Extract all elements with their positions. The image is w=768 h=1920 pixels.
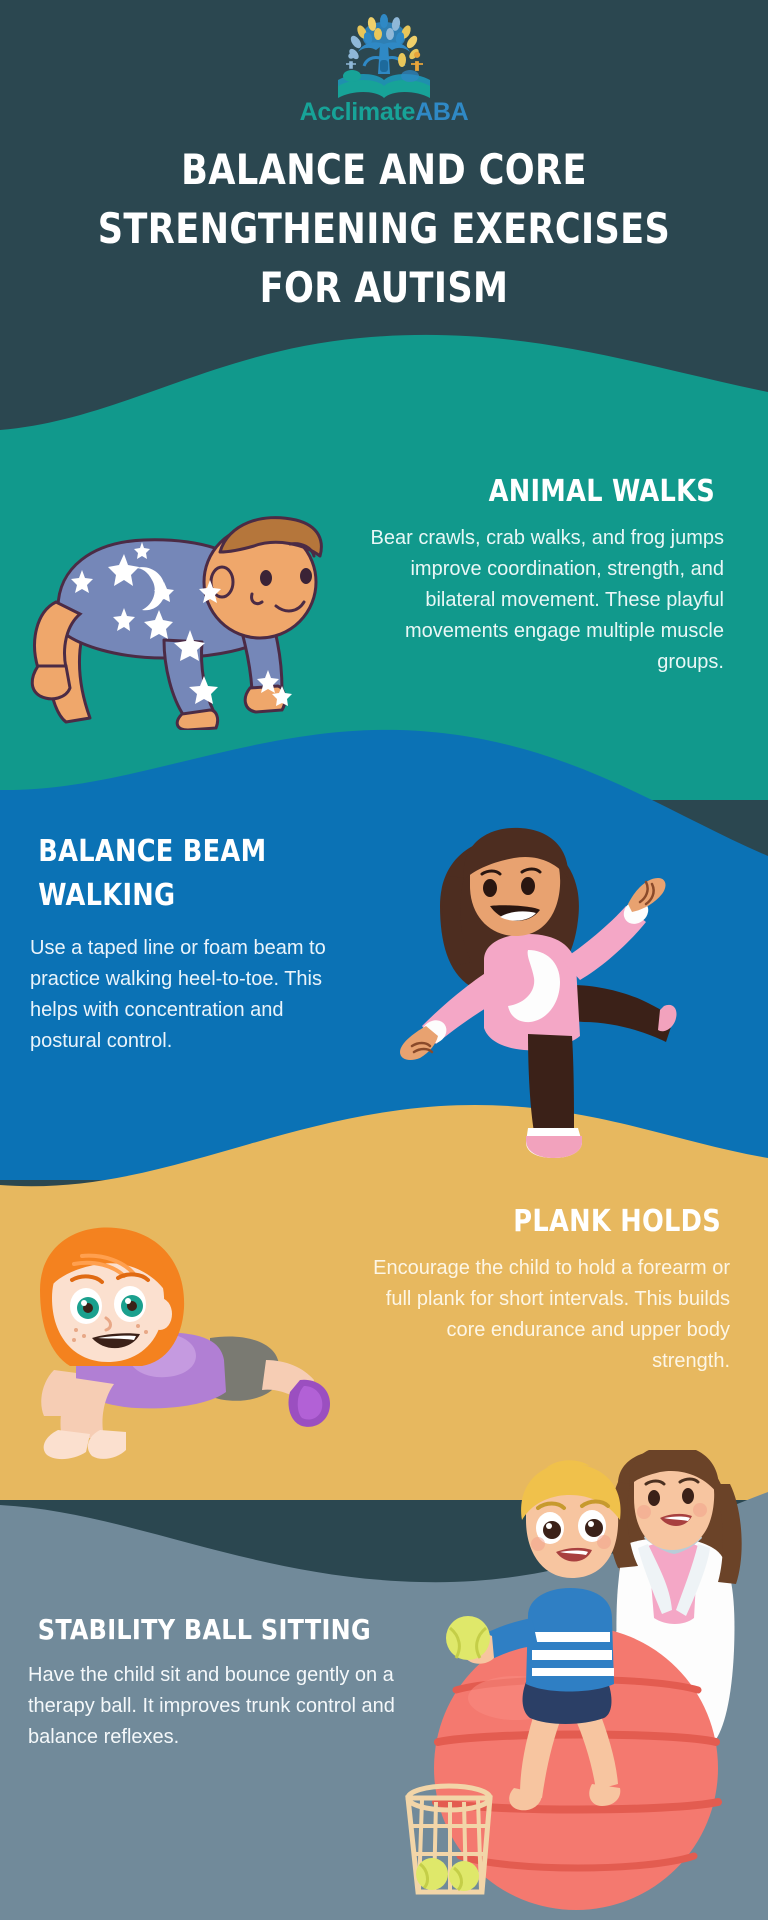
section-plank-holds: PLANK HOLDS Encourage the child to hold … <box>370 1200 730 1377</box>
brand-name-part2: ABA <box>415 98 468 126</box>
brand-name-part1: Acclimate <box>300 98 415 126</box>
poster-header: AcclimateABA Balance and Core Strengthen… <box>0 0 768 317</box>
brand-wordmark: AcclimateABA <box>300 98 469 127</box>
brand-logo[interactable]: AcclimateABA <box>0 0 768 127</box>
section-balance-beam-walking: BALANCE BEAM WALKING Use a taped line or… <box>30 830 360 1057</box>
section-title-animal-walks: ANIMAL WALKS <box>373 470 715 514</box>
section-stability-ball-sitting: STABILITY BALL SITTING Have the child si… <box>28 1610 420 1753</box>
section-body-balance-beam-walking: Use a taped line or foam beam to practic… <box>30 933 360 1057</box>
section-title-balance-beam-walking: BALANCE BEAM WALKING <box>38 830 352 917</box>
page-title: Balance and Core Strengthening Exercises… <box>27 141 741 317</box>
section-body-plank-holds: Encourage the child to hold a forearm or… <box>370 1253 730 1377</box>
infographic-poster: AcclimateABA Balance and Core Strengthen… <box>0 0 768 1920</box>
section-title-plank-holds: PLANK HOLDS <box>379 1200 721 1244</box>
tree-book-logo-icon <box>332 14 436 102</box>
section-title-stability-ball-sitting: STABILITY BALL SITTING <box>38 1610 410 1651</box>
section-animal-walks: ANIMAL WALKS Bear crawls, crab walks, an… <box>364 470 724 678</box>
section-body-animal-walks: Bear crawls, crab walks, and frog jumps … <box>364 523 724 678</box>
section-body-stability-ball-sitting: Have the child sit and bounce gently on … <box>28 1660 420 1753</box>
